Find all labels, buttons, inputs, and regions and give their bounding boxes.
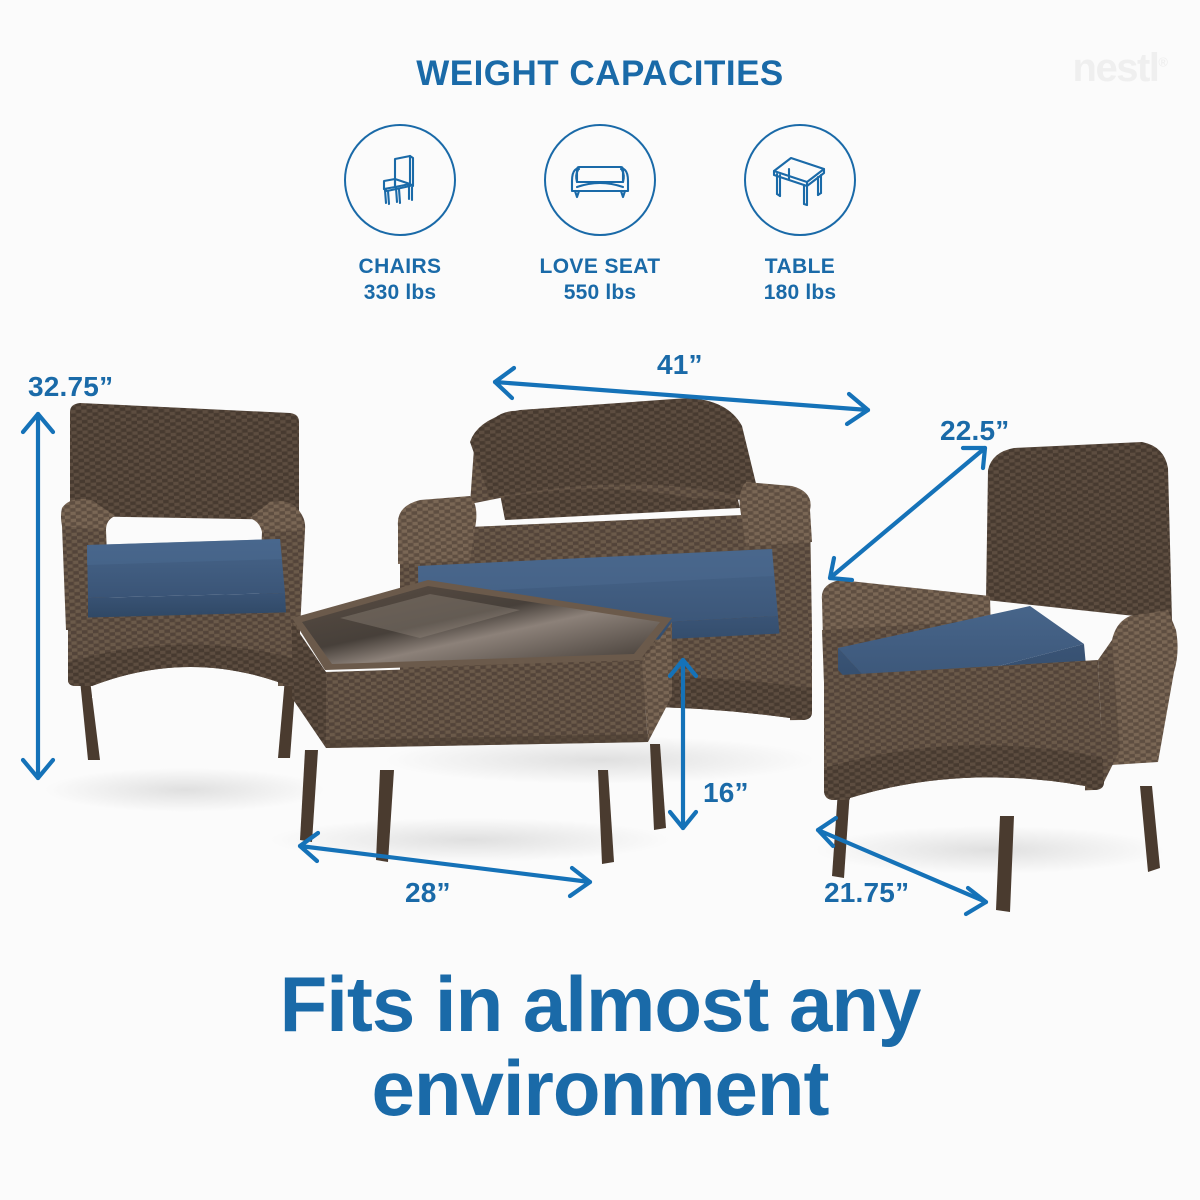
capacity-value-chairs: 330 lbs <box>364 280 437 306</box>
dimension-label-chair-width: 21.75” <box>824 877 909 909</box>
table-icon <box>767 149 833 211</box>
chair-left <box>61 403 305 760</box>
chair-icon-circle <box>344 124 456 236</box>
arrow-chair-depth <box>830 448 985 580</box>
capacity-item-loveseat: LOVE SEAT 550 lbs <box>526 124 674 307</box>
capacity-label-loveseat: LOVE SEAT <box>539 254 660 280</box>
dimension-label-chair-height: 32.75” <box>28 371 113 403</box>
table-icon-circle <box>744 124 856 236</box>
dimension-label-chair-depth: 22.5” <box>940 415 1010 447</box>
furniture-set-illustration <box>0 330 1200 960</box>
capacity-item-chairs: CHAIRS 330 lbs <box>326 124 474 307</box>
headline-line-2: environment <box>0 1046 1200 1130</box>
headline: Fits in almost any environment <box>0 962 1200 1130</box>
capacity-label-chairs: CHAIRS <box>359 254 442 280</box>
weight-capacities-title: WEIGHT CAPACITIES <box>0 54 1200 94</box>
arrow-chair-height <box>23 414 53 778</box>
capacity-value-loveseat: 550 lbs <box>564 280 637 306</box>
weight-capacities-row: CHAIRS 330 lbs LOVE SEAT 5 <box>300 124 900 307</box>
chair-icon <box>369 149 431 211</box>
product-scene <box>0 330 1200 960</box>
loveseat-icon <box>565 149 635 211</box>
capacity-label-table: TABLE <box>765 254 835 280</box>
loveseat-icon-circle <box>544 124 656 236</box>
capacity-value-table: 180 lbs <box>764 280 837 306</box>
capacity-item-table: TABLE 180 lbs <box>726 124 874 307</box>
dimension-label-loveseat-width: 41” <box>657 349 703 381</box>
dimension-label-table-width: 28” <box>405 877 451 909</box>
infographic-canvas: nestl® WEIGHT CAPACITIES <box>0 0 1200 1200</box>
dimension-label-table-height: 16” <box>703 777 749 809</box>
headline-line-1: Fits in almost any <box>0 962 1200 1046</box>
